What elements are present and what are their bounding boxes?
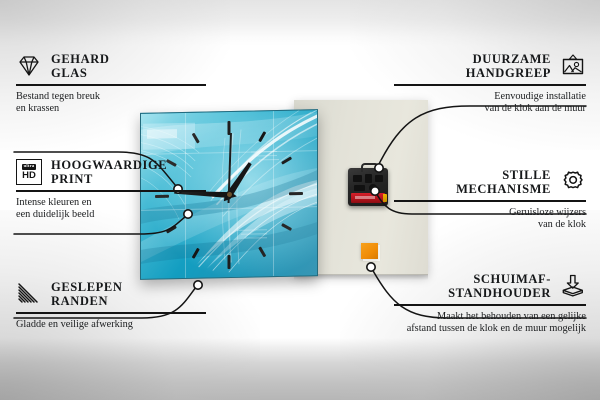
feature-title: GEHARD GLAS <box>51 52 109 80</box>
feature-divider <box>394 200 586 202</box>
feature-description: Gladde en veilige afwerking <box>16 319 206 331</box>
connector-endpoint <box>375 164 383 172</box>
feature-header: GEHARD GLAS <box>16 52 206 80</box>
feature-description: Maakt het behouden van een gelijke afsta… <box>394 311 586 336</box>
gear-icon <box>560 169 586 195</box>
feature-gehard-glas[interactable]: GEHARD GLAS Bestand tegen breuk en krass… <box>16 52 206 115</box>
feature-divider <box>16 312 206 314</box>
feature-title: HOOGWAARDIGE PRINT <box>51 158 167 186</box>
ultra-hd-icon: ultra HD <box>16 159 42 185</box>
diamond-icon <box>16 53 42 79</box>
feature-title: DUURZAME HANDGREEP <box>394 52 551 80</box>
connector-endpoint <box>371 187 379 195</box>
feature-stille-mechanisme[interactable]: STILLE MECHANISME Geruisloze wijzers van… <box>394 168 586 231</box>
feature-header: GESLEPEN RANDEN <box>16 280 206 308</box>
feature-duurzame-handgreep[interactable]: DUURZAME HANDGREEP Eenvoudige installati… <box>394 52 586 115</box>
feature-divider <box>394 84 586 86</box>
feature-divider <box>16 84 206 86</box>
feature-divider <box>16 190 206 192</box>
feature-schuimaf-standhouder[interactable]: SCHUIMAF- STANDHOUDER Maakt het behouden… <box>394 272 586 335</box>
feature-header: DUURZAME HANDGREEP <box>394 52 586 80</box>
feature-hoogwaardige-print[interactable]: ultra HD HOOGWAARDIGE PRINT Intense kleu… <box>16 158 206 221</box>
feature-header: ultra HD HOOGWAARDIGE PRINT <box>16 158 206 186</box>
infographic-canvas: GEHARD GLAS Bestand tegen breuk en krass… <box>0 0 600 400</box>
feature-description: Eenvoudige installatie van de klok aan d… <box>394 91 586 116</box>
feature-title: SCHUIMAF- STANDHOUDER <box>394 272 551 300</box>
feature-title: GESLEPEN RANDEN <box>51 280 123 308</box>
feature-divider <box>394 304 586 306</box>
feature-geslepen-randen[interactable]: GESLEPEN RANDEN Gladde en veilige afwerk… <box>16 280 206 331</box>
connector-endpoint <box>367 263 375 271</box>
feature-header: SCHUIMAF- STANDHOUDER <box>394 272 586 300</box>
feature-title: STILLE MECHANISME <box>394 168 551 196</box>
picture-frame-icon <box>560 53 586 79</box>
feature-description: Bestand tegen breuk en krassen <box>16 91 206 116</box>
feature-description: Intense kleuren en een duidelijk beeld <box>16 197 206 222</box>
feature-description: Geruisloze wijzers van de klok <box>394 207 586 232</box>
arrow-down-pad-icon <box>560 273 586 299</box>
feature-header: STILLE MECHANISME <box>394 168 586 196</box>
beveled-edge-icon <box>16 281 42 307</box>
ultra-hd-badge: ultra HD <box>16 159 42 185</box>
